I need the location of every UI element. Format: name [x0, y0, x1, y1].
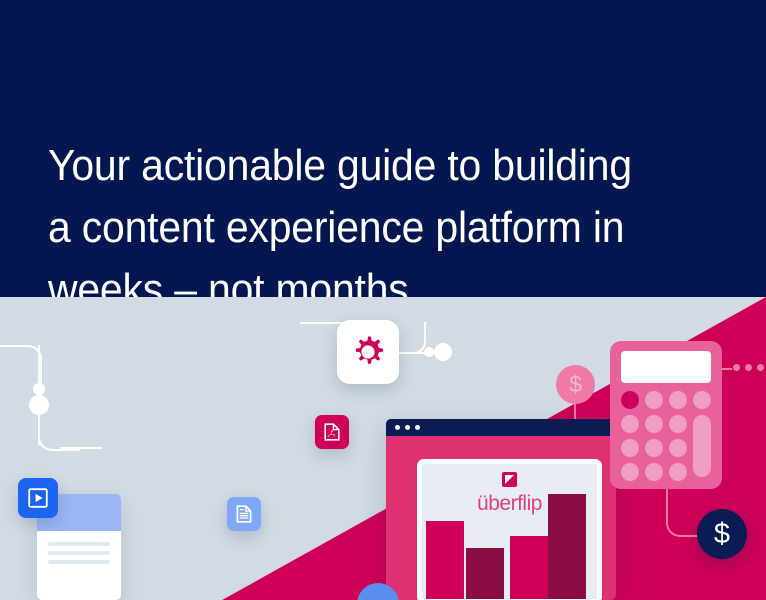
connector-corner-top: [396, 322, 426, 354]
chart-bar: [426, 521, 464, 599]
uberflip-mark-icon: [502, 472, 517, 487]
window-dot-close[interactable]: [395, 425, 400, 430]
calculator-key[interactable]: [645, 439, 663, 457]
video-card-line: [48, 542, 110, 546]
connector-node-large-mid: [434, 343, 452, 361]
calculator-enter-key[interactable]: [693, 415, 711, 477]
calculator-right-dot-3: [757, 364, 764, 371]
connector-node-small-left: [33, 383, 45, 395]
gear-icon[interactable]: [337, 320, 399, 384]
illustration-stage: überflip: [0, 297, 766, 600]
calculator-right-dot-2: [745, 364, 752, 371]
document-icon[interactable]: [227, 497, 261, 531]
dollar-badge-large: $: [697, 509, 747, 559]
video-play-icon[interactable]: [18, 478, 58, 518]
calculator-key[interactable]: [645, 391, 663, 409]
calculator-key[interactable]: [621, 415, 639, 433]
window-dot-minimize[interactable]: [405, 425, 410, 430]
calculator-key[interactable]: [621, 439, 639, 457]
video-card-line: [48, 560, 110, 564]
page-root: Your actionable guide to building a cont…: [0, 0, 766, 600]
calculator-key[interactable]: [645, 415, 663, 433]
calculator[interactable]: [610, 341, 722, 489]
video-card-line: [48, 551, 110, 555]
calculator-right-line: [722, 368, 732, 370]
calculator-key[interactable]: [669, 415, 687, 433]
pdf-icon[interactable]: [315, 415, 349, 449]
chart-canvas: überflip: [417, 459, 602, 600]
calculator-right-dot-1: [733, 364, 740, 371]
calculator-key[interactable]: [645, 463, 663, 481]
analytics-title-bar: [386, 419, 616, 436]
calculator-key[interactable]: [669, 439, 687, 457]
connector-line-left-foot: [60, 447, 102, 449]
calculator-key[interactable]: [621, 463, 639, 481]
dollar-symbol: $: [714, 518, 730, 551]
window-dot-maximize[interactable]: [415, 425, 420, 430]
hero-banner: Your actionable guide to building a cont…: [0, 0, 766, 297]
calculator-key[interactable]: [669, 391, 687, 409]
connector-line-mid-left: [398, 352, 428, 354]
chart-bar: [466, 548, 504, 599]
chart-bar: [510, 536, 548, 599]
page-title: Your actionable guide to building a cont…: [48, 135, 662, 321]
calculator-key[interactable]: [669, 463, 687, 481]
chart-bar: [548, 494, 586, 599]
calculator-key[interactable]: [693, 391, 711, 409]
connector-node-large-left: [29, 395, 49, 415]
dollar-symbol: $: [569, 371, 582, 398]
analytics-browser[interactable]: überflip: [386, 419, 616, 600]
dollar-badge-small: $: [556, 365, 595, 404]
calculator-display: [621, 351, 711, 383]
calculator-key[interactable]: [621, 391, 639, 409]
